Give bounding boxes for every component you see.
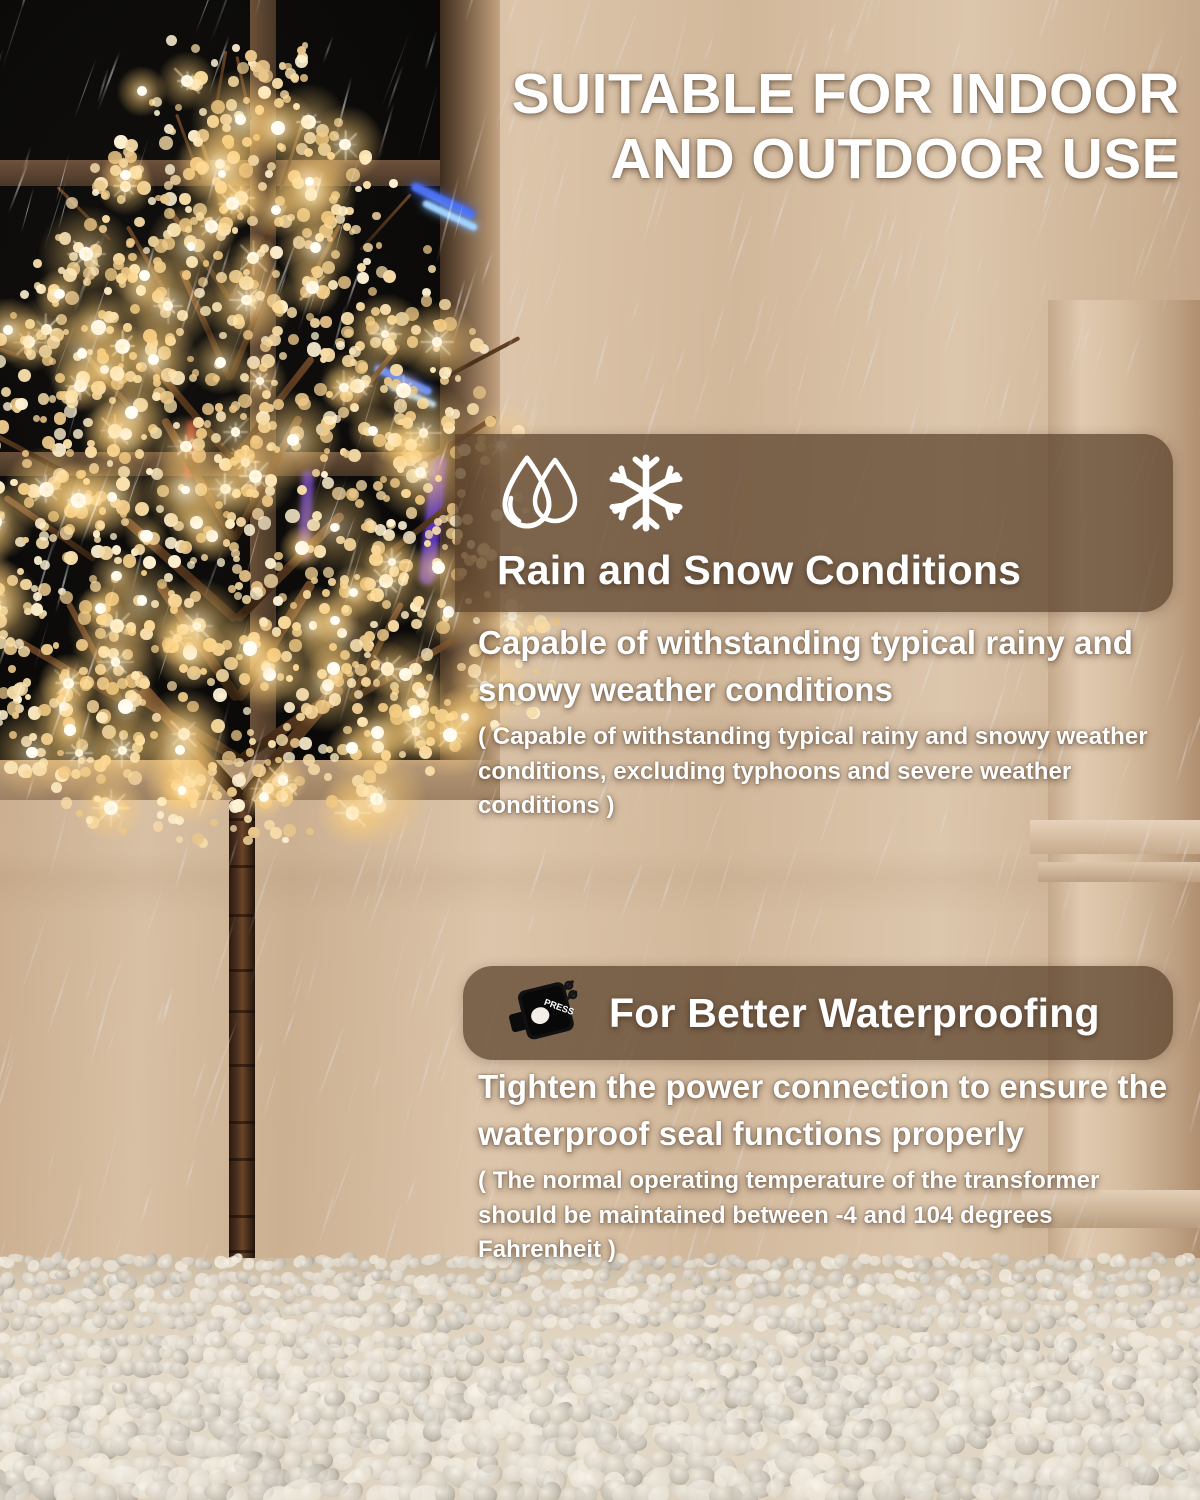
pebble	[1128, 1484, 1162, 1500]
pebble	[1179, 1285, 1200, 1302]
pebble	[17, 1331, 41, 1345]
rain-streak	[618, 1427, 630, 1457]
pebble	[199, 1435, 227, 1464]
pebble	[891, 1421, 910, 1444]
trunk-segment	[229, 1250, 255, 1253]
pebble	[1107, 1333, 1134, 1357]
pebble	[246, 1482, 275, 1500]
pebble	[241, 1388, 263, 1411]
pebble	[260, 1260, 275, 1271]
pebble	[528, 1315, 549, 1334]
pebble	[1193, 1334, 1200, 1352]
pebble	[914, 1469, 942, 1497]
pebble	[300, 1335, 322, 1358]
pebble	[632, 1375, 653, 1390]
pebble	[323, 1389, 346, 1408]
pebble	[1161, 1298, 1178, 1314]
pebble	[721, 1386, 746, 1413]
pebble	[450, 1281, 466, 1296]
rain-streak	[841, 196, 856, 245]
pebble	[460, 1382, 493, 1413]
pebble	[625, 1401, 653, 1429]
rain-streak	[739, 1392, 764, 1484]
pebble	[1100, 1282, 1120, 1301]
pebble	[259, 1310, 283, 1327]
pebble	[1181, 1252, 1195, 1263]
rain-streak	[637, 1472, 662, 1500]
led-bulb	[443, 728, 457, 742]
pebble	[625, 1356, 647, 1377]
rain-streak	[949, 1275, 969, 1346]
pebble	[645, 1483, 674, 1500]
rain-streak	[1067, 307, 1089, 384]
pebble	[247, 1351, 266, 1368]
water-drop-icon	[497, 454, 583, 537]
pebble	[381, 1345, 402, 1366]
pebble	[531, 1388, 555, 1408]
pebble	[579, 1295, 602, 1316]
rain-streak	[1014, 1310, 1042, 1400]
pebble	[1087, 1312, 1103, 1327]
pebble	[828, 1375, 856, 1402]
pebble	[297, 1285, 316, 1296]
pebble	[0, 1420, 18, 1443]
pebble	[0, 1387, 16, 1413]
pebble	[840, 1394, 865, 1417]
pebble	[407, 1435, 437, 1466]
pebble	[815, 1334, 833, 1351]
rain-streak	[506, 277, 532, 356]
pebble	[810, 1449, 840, 1475]
pebble	[380, 1269, 394, 1283]
pebble	[100, 1364, 126, 1380]
pebble	[928, 1433, 960, 1462]
rain-streak	[261, 1062, 279, 1123]
rain-streak	[56, 154, 70, 203]
pebble	[1023, 1317, 1041, 1335]
pebble	[977, 1272, 993, 1288]
pebble	[216, 1386, 245, 1414]
pebble	[1010, 1363, 1032, 1385]
pebble	[1140, 1376, 1159, 1392]
pebble	[269, 1274, 284, 1288]
pebble	[113, 1267, 136, 1289]
pebble	[134, 1420, 166, 1448]
pebble	[874, 1449, 901, 1478]
pebble	[0, 1383, 24, 1403]
pebble	[419, 1417, 447, 1446]
pebble	[690, 1273, 705, 1289]
led-bulb	[330, 616, 339, 625]
pebble	[485, 1404, 519, 1435]
pebble	[1188, 1416, 1200, 1437]
pebble	[1095, 1468, 1123, 1491]
pebble	[253, 1257, 270, 1273]
pebble	[492, 1476, 530, 1500]
pebble	[358, 1390, 379, 1405]
pebble	[253, 1330, 271, 1348]
rain-streak	[21, 0, 31, 8]
pebble	[182, 1314, 196, 1328]
pebble	[644, 1271, 663, 1289]
pebble	[1085, 1364, 1107, 1386]
pebble	[329, 1301, 348, 1321]
pebble	[362, 1481, 394, 1500]
pebble	[761, 1343, 781, 1363]
pebble	[735, 1358, 760, 1380]
led-sparkle	[0, 521, 5, 523]
pebble	[566, 1401, 594, 1425]
pebble	[22, 1315, 41, 1331]
pebble	[1114, 1481, 1144, 1500]
rain-streak	[163, 1257, 181, 1301]
pebble	[667, 1402, 692, 1428]
pebble	[935, 1401, 969, 1432]
pebble	[872, 1348, 895, 1369]
pebble	[1092, 1309, 1116, 1332]
pebble	[1000, 1286, 1018, 1299]
pebble	[857, 1366, 879, 1381]
pebble	[396, 1379, 418, 1399]
pebble	[45, 1404, 75, 1427]
led-bud	[363, 181, 371, 189]
pebble	[171, 1312, 193, 1334]
rain-streak	[249, 910, 276, 987]
rain-streak	[1136, 209, 1165, 289]
pebble	[1106, 1273, 1121, 1282]
led-bud	[242, 595, 251, 604]
pebble	[370, 1329, 387, 1345]
pebble	[964, 1311, 984, 1330]
pebble	[966, 1376, 994, 1399]
pebble	[255, 1297, 275, 1315]
pebble	[710, 1404, 742, 1429]
rain-streak	[999, 823, 1027, 915]
pebble	[848, 1414, 878, 1442]
pebble	[0, 1254, 16, 1270]
pebble	[505, 1298, 526, 1317]
rain-streak	[865, 288, 877, 328]
pebble	[127, 1334, 143, 1346]
pebble	[718, 1360, 739, 1381]
pebble	[109, 1297, 129, 1312]
pebble	[1175, 1431, 1200, 1460]
pebble	[73, 1456, 106, 1474]
pebble	[981, 1345, 1011, 1373]
pebble	[786, 1464, 818, 1496]
rain-streak	[48, 1405, 71, 1463]
pebble	[99, 1392, 117, 1415]
pebble	[483, 1285, 503, 1304]
rain-streak	[917, 1348, 940, 1415]
pebble	[50, 1476, 82, 1500]
pebble	[524, 1273, 543, 1291]
pebble	[771, 1446, 807, 1480]
pebble	[19, 1287, 33, 1303]
pebble	[519, 1276, 534, 1290]
feature-description: Tighten the power connection to ensure t…	[478, 1064, 1178, 1158]
pebble	[241, 1257, 256, 1273]
rain-streak	[726, 211, 754, 290]
pebble	[943, 1272, 963, 1288]
pebble	[825, 1268, 847, 1287]
rain-streak	[1015, 292, 1045, 369]
pebble	[88, 1270, 101, 1282]
pebble	[608, 1301, 631, 1320]
led-bud	[288, 334, 299, 345]
pebble	[443, 1430, 470, 1459]
pebble	[470, 1302, 484, 1314]
pebble	[444, 1389, 473, 1417]
pebble	[289, 1276, 304, 1291]
pillar-cap-lower	[1038, 862, 1200, 882]
rain-streak	[1127, 1470, 1138, 1500]
rain-streak	[878, 1316, 899, 1376]
rain-streak	[805, 894, 827, 954]
pebble	[94, 1483, 119, 1500]
pebble	[645, 1313, 663, 1329]
led-bud	[363, 243, 373, 253]
pebble	[1068, 1399, 1094, 1425]
pebble	[192, 1362, 215, 1383]
led-bulb	[140, 530, 152, 542]
led-bulb	[148, 354, 159, 365]
pebble	[158, 1285, 180, 1301]
pebble	[709, 1485, 742, 1500]
pebble	[248, 1374, 276, 1400]
rain-streak	[402, 1086, 416, 1139]
pebble	[625, 1431, 649, 1453]
pebble	[415, 1304, 432, 1321]
pebble	[583, 1359, 613, 1386]
pebble	[958, 1330, 976, 1350]
pebble	[295, 1334, 313, 1353]
pebble	[201, 1261, 213, 1270]
pebble	[317, 1379, 339, 1397]
pebble	[899, 1407, 923, 1426]
pebble	[1042, 1333, 1060, 1351]
pebble	[1007, 1413, 1038, 1444]
rain-streak	[1114, 1407, 1136, 1483]
led-bulb	[287, 434, 299, 446]
pebble	[716, 1456, 740, 1485]
pebble	[49, 1337, 65, 1350]
pebble	[503, 1416, 532, 1440]
pebble	[795, 1267, 815, 1286]
pebble	[569, 1268, 588, 1283]
pebble	[313, 1346, 338, 1368]
pebble	[262, 1286, 284, 1302]
led-bud	[234, 758, 243, 767]
pebble	[541, 1373, 571, 1400]
pebble	[10, 1345, 30, 1359]
pebble	[1027, 1481, 1062, 1500]
pebble	[420, 1470, 449, 1497]
pebble	[138, 1250, 160, 1271]
pebble	[265, 1332, 282, 1347]
pebble	[119, 1361, 137, 1377]
pebble	[784, 1315, 807, 1335]
pebble	[480, 1311, 503, 1333]
pebble	[848, 1406, 877, 1422]
pebble	[795, 1404, 824, 1431]
pebble	[543, 1297, 567, 1319]
rain-streak	[0, 1030, 13, 1102]
pebble	[879, 1303, 897, 1321]
feature-note: ( Capable of withstanding typical rainy …	[478, 720, 1178, 824]
pebble	[983, 1302, 1004, 1322]
pebble	[556, 1303, 578, 1320]
pebble	[1137, 1270, 1153, 1284]
pebble	[369, 1347, 391, 1363]
pebble	[594, 1285, 611, 1299]
pebble	[175, 1274, 188, 1285]
rain-streak	[0, 1234, 7, 1265]
rain-streak	[60, 1234, 74, 1273]
rain-streak	[0, 1048, 18, 1138]
pebble	[331, 1271, 352, 1290]
pebble	[751, 1312, 775, 1334]
pebble	[427, 1357, 455, 1384]
pebble	[354, 1455, 385, 1478]
pebble	[670, 1290, 682, 1303]
rain-streak	[579, 1364, 604, 1426]
led-bud	[300, 74, 308, 82]
pebble	[115, 1254, 129, 1268]
rain-streak	[97, 68, 109, 104]
pebble	[169, 1345, 192, 1369]
rain-streak	[434, 1013, 459, 1082]
pebble	[1122, 1266, 1141, 1284]
pebble	[397, 1289, 415, 1308]
rain-streak	[77, 1254, 98, 1325]
pebble	[1167, 1285, 1183, 1298]
rain-streak	[425, 30, 438, 70]
led-bulb	[178, 786, 187, 795]
pebble	[1032, 1461, 1063, 1493]
pebble	[124, 1401, 148, 1421]
pebble	[1066, 1314, 1090, 1335]
pebble	[1171, 1421, 1194, 1445]
pebble	[468, 1287, 483, 1299]
pebble	[981, 1454, 1007, 1475]
pebble	[1196, 1275, 1200, 1291]
pebble	[80, 1273, 99, 1291]
pebble	[971, 1421, 993, 1443]
pebble	[410, 1347, 430, 1366]
pebble	[408, 1330, 435, 1354]
pebble	[1012, 1374, 1034, 1397]
pebble	[48, 1300, 67, 1319]
pebble	[986, 1286, 1003, 1303]
pebble	[1140, 1399, 1168, 1426]
pebble	[825, 1306, 839, 1322]
rain-streak	[209, 914, 237, 998]
pebble	[375, 1257, 388, 1271]
pillar-cap	[1030, 820, 1200, 854]
pebble	[337, 1250, 357, 1269]
pebble	[764, 1280, 784, 1300]
pebble	[350, 1407, 374, 1431]
rain-streak	[1080, 1371, 1093, 1405]
pebble	[113, 1332, 130, 1348]
pebble	[387, 1455, 411, 1470]
pebble	[695, 1378, 714, 1394]
pebble	[556, 1315, 577, 1333]
pebble	[306, 1379, 329, 1397]
pebble	[401, 1417, 436, 1449]
pebble	[1183, 1482, 1200, 1500]
pebble	[9, 1453, 39, 1481]
pebble	[257, 1401, 282, 1428]
rain-streak	[506, 185, 528, 254]
pebble	[88, 1404, 108, 1422]
pebble	[24, 1365, 40, 1384]
rain-streak	[74, 56, 97, 118]
rain-streak	[383, 1464, 392, 1492]
pebble	[837, 1301, 857, 1319]
rain-streak	[709, 297, 727, 356]
rain-streak	[95, 1123, 121, 1215]
pebble	[116, 1418, 142, 1444]
pebble	[192, 1255, 209, 1272]
pebble	[280, 1388, 300, 1408]
pebble	[628, 1414, 653, 1439]
pebble	[433, 1482, 456, 1500]
pebble	[586, 1400, 615, 1422]
pebble	[891, 1297, 911, 1313]
pebble	[515, 1390, 539, 1413]
pebble	[0, 1465, 31, 1500]
pebble	[358, 1359, 384, 1381]
pebble	[755, 1377, 783, 1403]
pebble	[415, 1311, 440, 1336]
rain-streak	[89, 986, 113, 1068]
pebble	[1102, 1391, 1128, 1417]
rain-streak	[343, 1071, 361, 1127]
led-bulb	[77, 348, 87, 358]
led-bud	[363, 258, 371, 266]
pebble	[1006, 1380, 1034, 1403]
pebble	[1124, 1401, 1148, 1421]
rain-streak	[159, 986, 174, 1025]
led-bud	[258, 516, 271, 529]
rain-streak	[844, 25, 855, 55]
pebble	[0, 1430, 26, 1454]
pebble	[1164, 1480, 1200, 1500]
pebble	[901, 1298, 917, 1315]
pebble	[1064, 1299, 1080, 1316]
pebble	[943, 1421, 976, 1447]
rain-streak	[768, 183, 790, 248]
pebble	[358, 1258, 371, 1273]
pebble	[477, 1436, 499, 1457]
rain-streak	[370, 1468, 393, 1500]
pebble	[695, 1400, 726, 1426]
pebble	[121, 1391, 144, 1412]
pebble	[70, 1341, 92, 1364]
pebble	[905, 1341, 932, 1363]
pebble	[907, 1478, 937, 1500]
pebble	[607, 1380, 634, 1396]
rain-streak	[651, 382, 665, 420]
pebble	[216, 1286, 239, 1305]
pebble	[939, 1344, 966, 1369]
led-bud	[428, 265, 436, 273]
headline-line-2: AND OUTDOOR USE	[440, 127, 1180, 192]
pebble	[606, 1437, 638, 1463]
pebble	[714, 1283, 733, 1300]
